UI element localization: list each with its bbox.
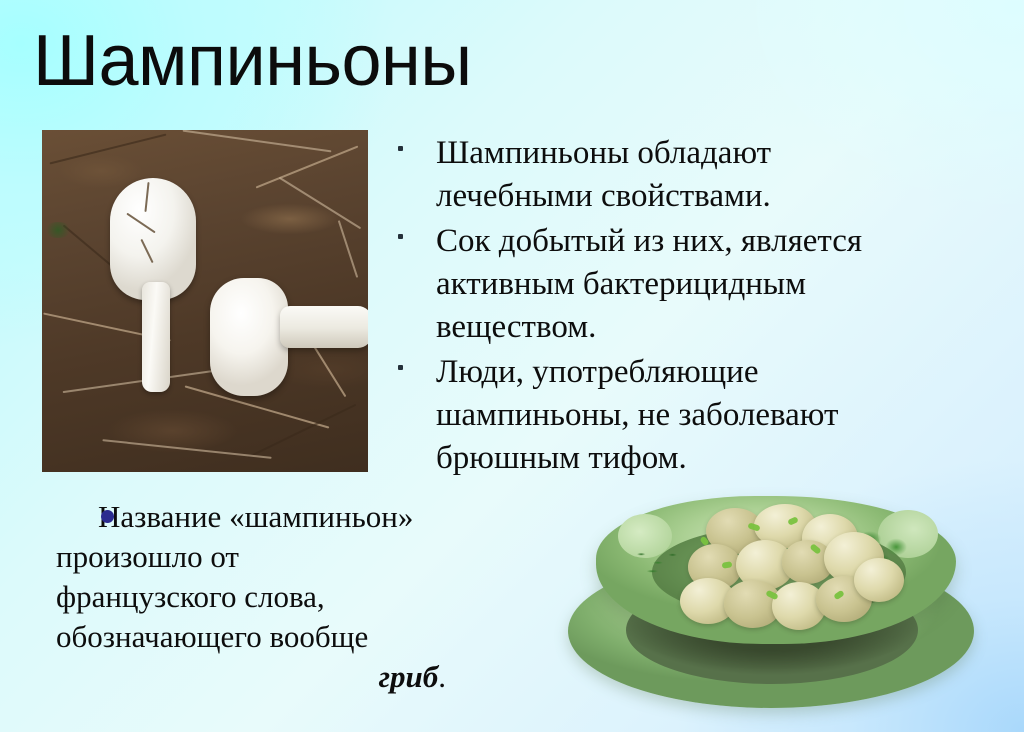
- presentation-slide: Шампиньоны Шампиньоны обладают лечебны: [0, 0, 1024, 732]
- origin-line-5-tail: .: [438, 659, 446, 694]
- moss-patch: [44, 222, 72, 238]
- origin-line-1: Название «шампиньон»: [56, 497, 546, 537]
- mushroom-cap-lying: [210, 278, 288, 396]
- facts-bullet-list: Шампиньоны обладают лечебными свойствами…: [394, 132, 994, 482]
- origin-line-5: гриб.: [56, 657, 546, 697]
- bullet-line: активным бактерицидным: [436, 263, 994, 306]
- square-bullet-icon: [398, 234, 403, 239]
- square-bullet-icon: [398, 146, 403, 151]
- bullet-line: шампиньоны, не заболевают: [436, 394, 994, 437]
- plate-mushrooms-photo: [560, 470, 990, 720]
- round-bullet-icon: [101, 510, 114, 523]
- bullet-line: Шампиньоны обладают: [436, 132, 994, 175]
- origin-line-4: обозначающего вообще: [56, 617, 546, 657]
- page-title: Шампиньоны: [33, 18, 472, 104]
- mushroom-stem-standing: [142, 282, 170, 392]
- square-bullet-icon: [398, 365, 403, 370]
- bullet-line: веществом.: [436, 306, 994, 349]
- wild-mushrooms-photo: [42, 130, 368, 472]
- origin-line-3: французского слова,: [56, 577, 546, 617]
- marinated-mushroom: [854, 558, 904, 602]
- cap-crack: [140, 239, 153, 263]
- bullet-line: Сок добытый из них, является: [436, 220, 994, 263]
- list-item: Люди, употребляющие шампиньоны, не забол…: [394, 351, 994, 480]
- list-item: Сок добытый из них, является активным ба…: [394, 220, 994, 349]
- dill-garnish: [630, 544, 686, 578]
- word-origin-paragraph: Название «шампиньон» произошло от францу…: [56, 497, 546, 697]
- mushroom-stem-lying: [280, 306, 368, 348]
- cap-crack: [144, 182, 149, 212]
- emphasis-word-grib: гриб: [379, 659, 439, 694]
- origin-line-1-text: Название «шампиньон»: [98, 499, 413, 534]
- list-item: Шампиньоны обладают лечебными свойствами…: [394, 132, 994, 218]
- bullet-line: лечебными свойствами.: [436, 175, 994, 218]
- origin-line-2: произошло от: [56, 537, 546, 577]
- bullet-line: Люди, употребляющие: [436, 351, 994, 394]
- cap-crack: [126, 213, 155, 234]
